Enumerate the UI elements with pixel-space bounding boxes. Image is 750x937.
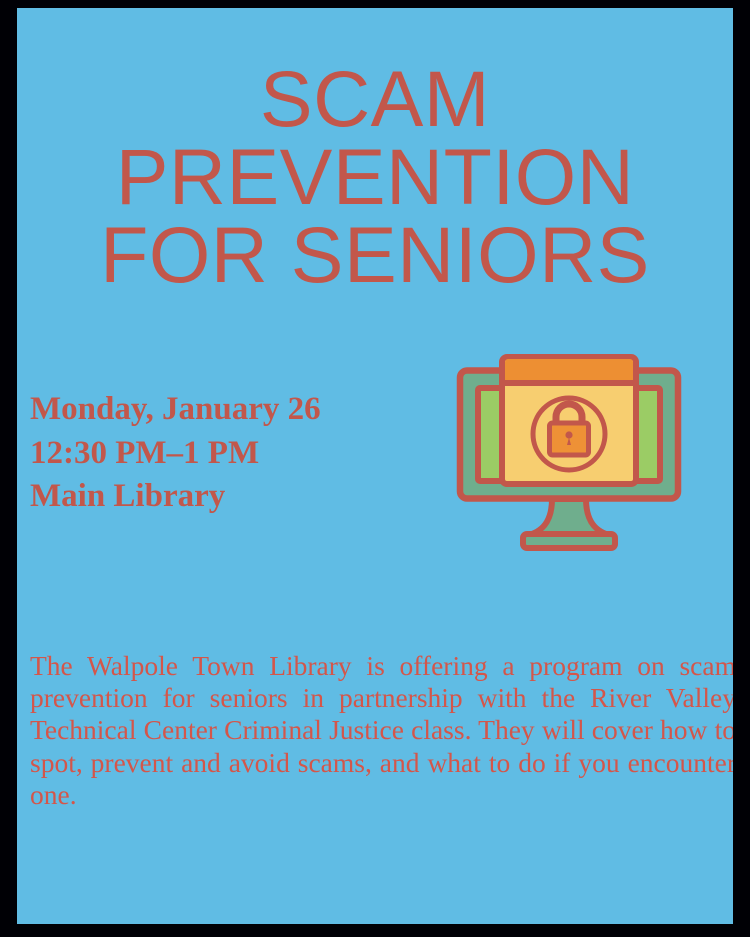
title-line-2: PREVENTION [17, 138, 733, 216]
monitor-security-lock-icon [449, 350, 689, 565]
poster-canvas: SCAM PREVENTION FOR SENIORS Monday, Janu… [17, 8, 733, 924]
event-date: Monday, January 26 [30, 388, 460, 432]
body-paragraph: The Walpole Town Library is offering a p… [30, 650, 733, 811]
poster-frame: SCAM PREVENTION FOR SENIORS Monday, Janu… [0, 0, 750, 937]
title-line-3: FOR SENIORS [17, 216, 733, 294]
page-title: SCAM PREVENTION FOR SENIORS [17, 60, 733, 295]
event-time: 12:30 PM–1 PM [30, 432, 460, 476]
event-location: Main Library [30, 475, 460, 519]
body-paragraph-block: The Walpole Town Library is offering a p… [30, 650, 733, 811]
monitor-stand [523, 499, 615, 548]
event-details: Monday, January 26 12:30 PM–1 PM Main Li… [30, 388, 460, 519]
title-line-1: SCAM [17, 60, 733, 138]
